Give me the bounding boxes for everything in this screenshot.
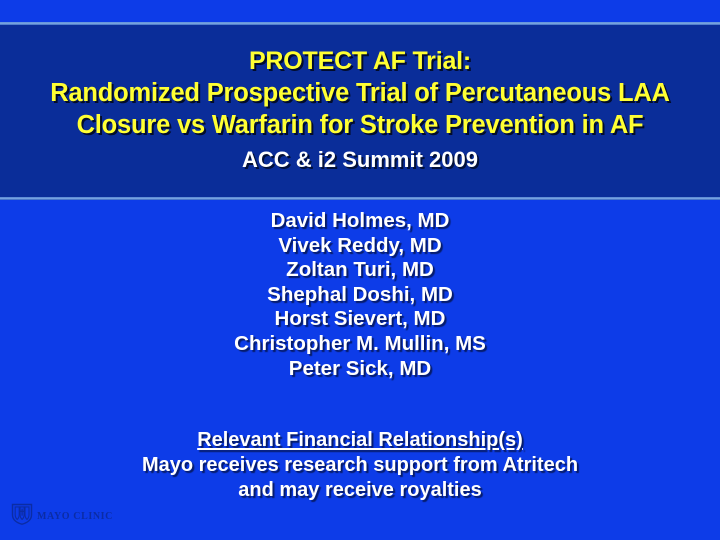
disclosure-line-1: Mayo receives research support from Atri… <box>0 453 720 478</box>
author-name: Peter Sick, MD <box>0 357 720 382</box>
author-name: Zoltan Turi, MD <box>0 258 720 283</box>
title-line-2: Randomized Prospective Trial of Percutan… <box>50 77 670 109</box>
author-list: David Holmes, MD Vivek Reddy, MD Zoltan … <box>0 209 720 381</box>
disclosure-block: Relevant Financial Relationship(s) Mayo … <box>0 428 720 503</box>
top-accent-strip <box>0 0 720 22</box>
title-band: PROTECT AF Trial: Randomized Prospective… <box>0 25 720 197</box>
title-line-3: Closure vs Warfarin for Stroke Preventio… <box>77 109 644 141</box>
author-name: Christopher M. Mullin, MS <box>0 332 720 357</box>
presentation-slide: PROTECT AF Trial: Randomized Prospective… <box>0 0 720 540</box>
mayo-clinic-logo: MAYO CLINIC <box>11 504 131 528</box>
disclosure-heading: Relevant Financial Relationship(s) <box>0 428 720 453</box>
author-name: Vivek Reddy, MD <box>0 234 720 259</box>
slide-body: David Holmes, MD Vivek Reddy, MD Zoltan … <box>0 200 720 540</box>
mayo-shield-icon <box>11 503 33 530</box>
author-name: David Holmes, MD <box>0 209 720 234</box>
title-subtitle: ACC & i2 Summit 2009 <box>242 145 478 175</box>
mayo-wordmark: MAYO CLINIC <box>37 511 113 522</box>
author-name: Shephal Doshi, MD <box>0 283 720 308</box>
author-name: Horst Sievert, MD <box>0 307 720 332</box>
title-line-1: PROTECT AF Trial: <box>249 45 471 77</box>
disclosure-line-2: and may receive royalties <box>0 478 720 503</box>
